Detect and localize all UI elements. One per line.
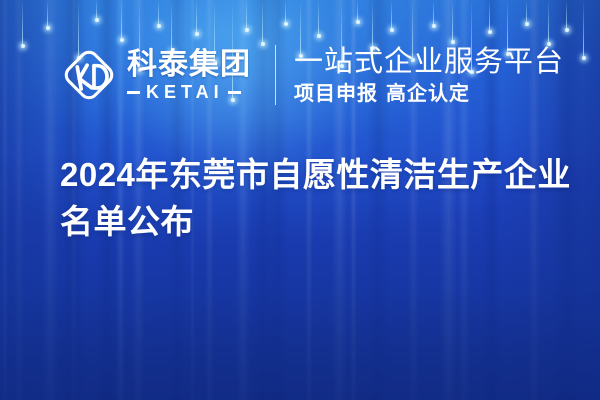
light-particle — [583, 0, 584, 58]
header-divider — [275, 45, 276, 105]
brand-logo[interactable]: 科泰集团 KETAI — [58, 44, 251, 106]
light-particle — [391, 0, 392, 30]
dash-left-icon — [127, 91, 140, 94]
light-particle — [526, 0, 527, 24]
tagline-sub: 项目申报 高企认定 — [294, 82, 564, 105]
light-particle — [22, 0, 23, 46]
light-particle — [96, 0, 97, 20]
brand-name-cn: 科泰集团 — [127, 49, 251, 81]
light-particle — [452, 0, 453, 42]
banner-header: 科泰集团 KETAI 一站式企业服务平台 项目申报 高企认定 — [58, 44, 564, 106]
ketai-diamond-kd-monogram-icon — [58, 44, 120, 106]
page-title: 2024年东莞市自愿性清洁生产企业名单公布 — [60, 152, 580, 246]
tagline-main: 一站式企业服务平台 — [294, 45, 564, 77]
light-particle — [489, 0, 490, 32]
light-particle — [196, 0, 197, 34]
light-particle — [121, 0, 122, 40]
light-particle — [566, 0, 567, 30]
light-particle — [246, 0, 247, 30]
light-particle — [158, 0, 159, 26]
brand-name-en-row: KETAI — [127, 83, 251, 101]
tagline-block: 一站式企业服务平台 项目申报 高企认定 — [294, 45, 564, 105]
brand-wordmark: 科泰集团 KETAI — [127, 49, 251, 102]
light-particle — [262, 0, 263, 44]
promo-banner: 科泰集团 KETAI 一站式企业服务平台 项目申报 高企认定 2024年东莞市自… — [0, 0, 600, 400]
light-particle — [318, 0, 319, 36]
light-particle — [433, 0, 434, 26]
light-particle — [548, 0, 549, 44]
brand-name-en: KETAI — [146, 83, 224, 101]
light-particle — [285, 0, 286, 24]
light-particle — [357, 0, 358, 22]
light-particle — [372, 0, 373, 48]
light-particle — [47, 0, 48, 28]
dash-right-icon — [228, 91, 241, 94]
